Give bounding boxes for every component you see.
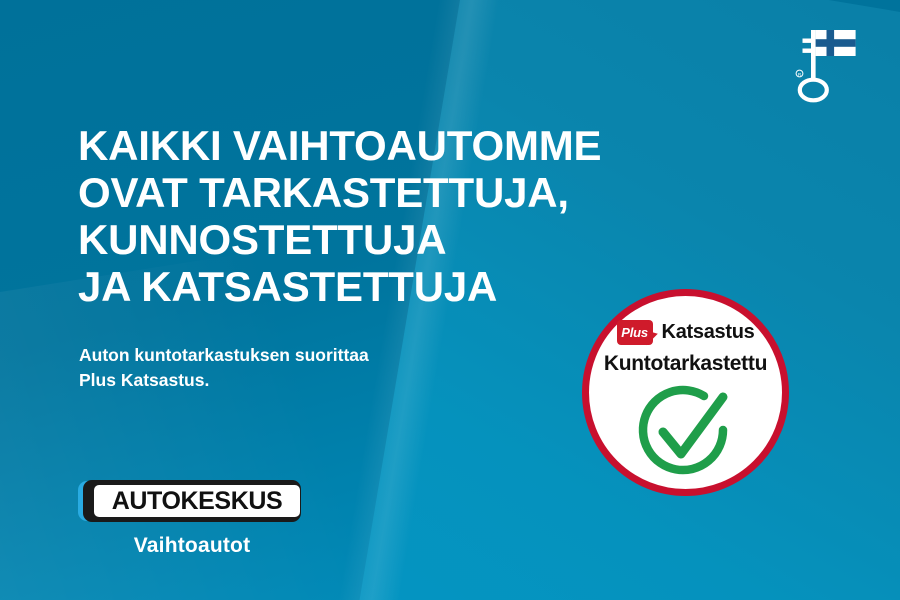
logo-tagline: Vaihtoautot [78,534,306,558]
autokeskus-logo[interactable]: AUTOKESKUS [78,480,306,522]
subtitle-line-2: Plus Katsastus. [79,368,509,393]
plus-label: Plus [617,320,653,345]
subtitle: Auton kuntotarkastuksen suorittaa Plus K… [79,343,509,393]
key-flag-icon: R [786,26,858,106]
badge-brand-text: Katsastus [662,321,755,344]
promo-banner: R KAIKKI VAIHTOAUTOMME OVAT TARKASTETTUJ… [0,0,900,600]
logo-plate: AUTOKESKUS [83,480,301,522]
badge-status-text: Kuntotarkastettu [589,352,782,376]
badge-check-wrap [589,384,782,484]
logo-brand-text: AUTOKESKUS [112,489,283,514]
headline-line-2: OVAT TARKASTETTUJA, [78,169,698,216]
plus-logo-icon: Plus [617,320,657,345]
autokeskus-logo-block[interactable]: AUTOKESKUS Vaihtoautot [78,480,318,558]
plus-katsastus-badge: Plus Katsastus Kuntotarkastettu [582,289,789,496]
headline: KAIKKI VAIHTOAUTOMME OVAT TARKASTETTUJA,… [78,122,698,310]
avainlippu-logo: R [786,26,858,106]
green-checkmark-icon [589,384,782,484]
subtitle-line-1: Auton kuntotarkastuksen suorittaa [79,343,509,368]
headline-line-1: KAIKKI VAIHTOAUTOMME [78,122,698,169]
logo-plate-inner: AUTOKESKUS [94,485,300,517]
badge-brand-row: Plus Katsastus [589,320,782,345]
headline-line-3: KUNNOSTETTUJA [78,216,698,263]
headline-line-4: JA KATSASTETTUJA [78,263,698,310]
